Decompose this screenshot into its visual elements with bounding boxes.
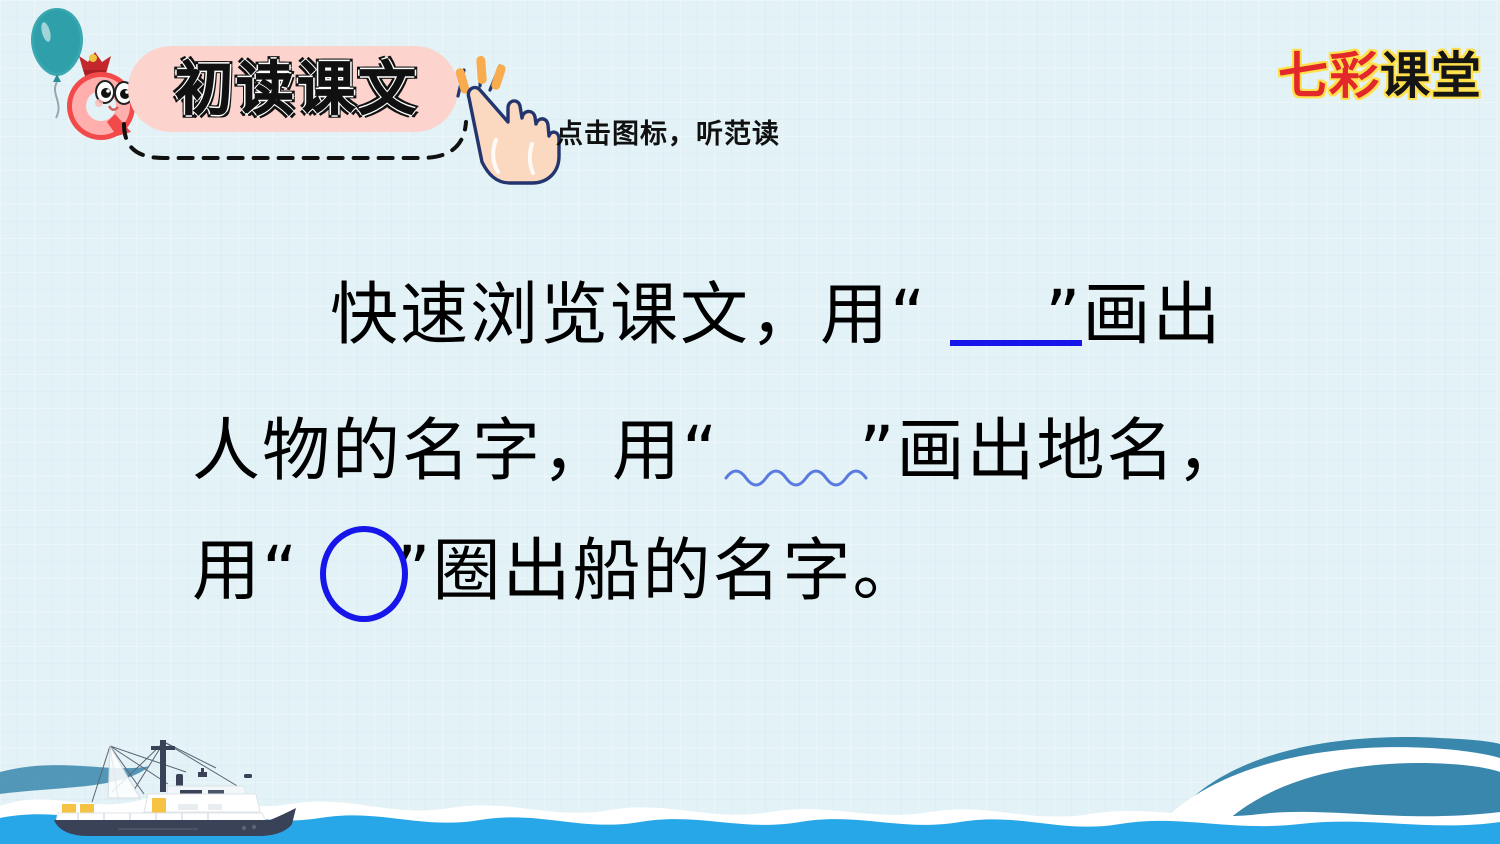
- instruction-line-1: 快速浏览课文，用“”画出: [0, 262, 1500, 370]
- dashed-underline-icon: [120, 116, 470, 166]
- line3-after: ”圈出船的名字。: [395, 532, 922, 611]
- line2-before: 人物的名字，用“: [192, 412, 719, 491]
- bottom-scene: [0, 654, 1500, 844]
- line3-before: 用“: [192, 532, 299, 611]
- blue-straight-underline-mark: [950, 340, 1082, 346]
- blue-wavy-underline-mark: [724, 458, 884, 492]
- header-section: 初读课文 点击图标，听范读: [0, 0, 900, 200]
- brand-logo-classroom: 课堂: [1380, 47, 1482, 105]
- instruction-line-3: 用“”圈出船的名字。: [0, 518, 1500, 626]
- instruction-text-block: 快速浏览课文，用“”画出 人物的名字，用“”画出地名， 用“”圈出船的名字。: [0, 262, 1500, 626]
- brand-logo-colorful: 七彩: [1278, 47, 1380, 105]
- fishing-boat-icon: [48, 728, 298, 838]
- hint-text: 点击图标，听范读: [556, 112, 780, 151]
- line1-before: 快速浏览课文，用“: [330, 276, 927, 355]
- blue-circle-mark: [320, 526, 408, 622]
- slide-canvas: 初读课文 点击图标，听范读 七彩课堂 快速浏: [0, 0, 1500, 844]
- line2-after: ”画出地名，: [859, 412, 1246, 491]
- instruction-line-2: 人物的名字，用“”画出地名，: [0, 398, 1500, 506]
- brand-logo: 七彩课堂: [1278, 36, 1482, 102]
